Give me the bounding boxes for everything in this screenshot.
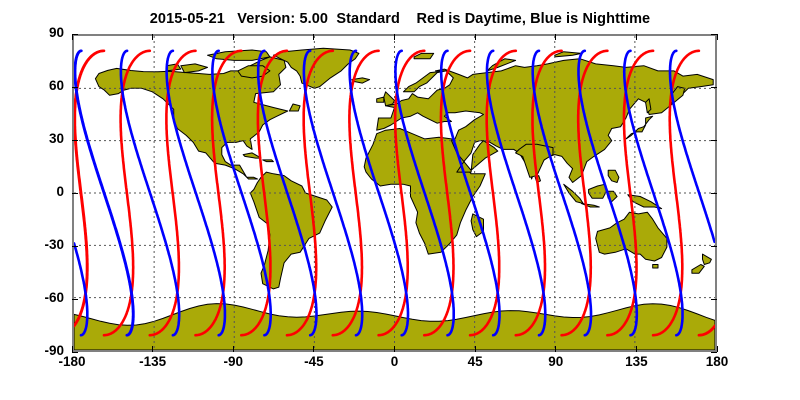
- x-axis-tick-label: 45: [445, 354, 505, 369]
- x-axis-tick-mark: [233, 346, 234, 352]
- x-axis-tick-mark: [233, 34, 234, 40]
- x-axis-tick-label: 90: [526, 354, 586, 369]
- x-axis-tick-label: 135: [606, 354, 666, 369]
- x-axis-tick-mark: [555, 346, 556, 352]
- y-axis-tick-mark: [711, 193, 717, 194]
- y-axis-tick-mark: [72, 87, 78, 88]
- x-axis-tick-label: -45: [284, 354, 344, 369]
- x-axis-tick-label: -180: [42, 354, 102, 369]
- y-axis-tick-mark: [72, 246, 78, 247]
- x-axis-tick-label: 180: [687, 354, 747, 369]
- x-axis-tick-mark: [394, 346, 395, 352]
- x-axis-tick-mark: [475, 346, 476, 352]
- ground-track-figure: 2015-05-21 Version: 5.00 Standard Red is…: [0, 0, 800, 400]
- x-axis-tick-mark: [313, 346, 314, 352]
- y-axis-tick-mark: [72, 352, 78, 353]
- map-canvas: [74, 36, 715, 350]
- x-axis-tick-label: -135: [123, 354, 183, 369]
- x-axis-tick-mark: [636, 34, 637, 40]
- x-axis-tick-mark: [152, 346, 153, 352]
- x-axis-tick-mark: [313, 34, 314, 40]
- y-axis-tick-mark: [711, 246, 717, 247]
- y-axis-tick-label: -30: [8, 237, 64, 252]
- y-axis-tick-mark: [711, 299, 717, 300]
- y-axis-tick-mark: [711, 87, 717, 88]
- y-axis-tick-mark: [711, 352, 717, 353]
- y-axis-tick-mark: [72, 299, 78, 300]
- x-axis-tick-mark: [636, 346, 637, 352]
- x-axis-tick-mark: [475, 34, 476, 40]
- y-axis-tick-label: 30: [8, 131, 64, 146]
- y-axis-tick-label: 0: [8, 184, 64, 199]
- y-axis-tick-mark: [72, 140, 78, 141]
- y-axis-tick-mark: [711, 34, 717, 35]
- x-axis-tick-mark: [555, 34, 556, 40]
- land-tasmania: [653, 265, 658, 269]
- y-axis-tick-mark: [711, 140, 717, 141]
- y-axis-tick-label: 60: [8, 78, 64, 93]
- y-axis-tick-label: 90: [8, 25, 64, 40]
- x-axis-tick-mark: [394, 34, 395, 40]
- x-axis-tick-label: 0: [365, 354, 425, 369]
- y-axis-tick-mark: [72, 34, 78, 35]
- y-axis-tick-label: -60: [8, 290, 64, 305]
- x-axis-tick-mark: [72, 34, 73, 40]
- plot-area: [72, 34, 717, 352]
- x-axis-tick-label: -90: [203, 354, 263, 369]
- x-axis-tick-mark: [717, 34, 718, 40]
- page-title: 2015-05-21 Version: 5.00 Standard Red is…: [0, 11, 800, 27]
- y-axis-tick-mark: [72, 193, 78, 194]
- x-axis-tick-mark: [152, 34, 153, 40]
